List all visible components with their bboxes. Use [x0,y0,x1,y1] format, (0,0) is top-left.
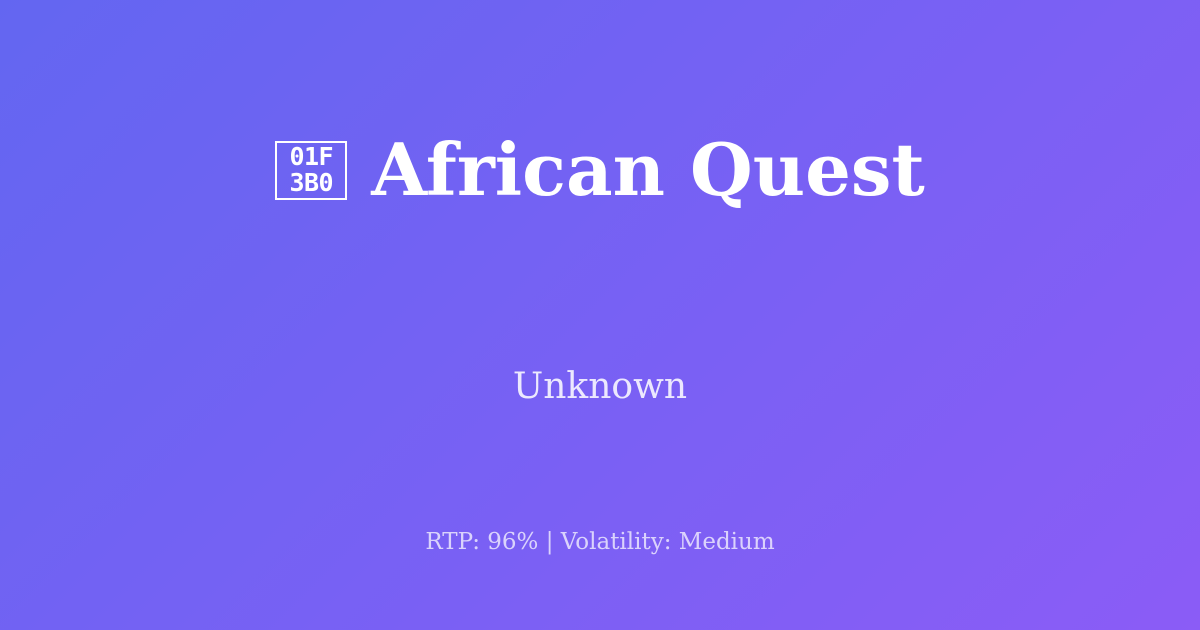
game-meta-line: RTP: 96% | Volatility: Medium [0,526,1200,558]
game-share-card: 01F 3B0 African Quest Unknown RTP: 96% |… [0,0,1200,630]
slot-machine-icon-codepoint-line2: 3B0 [289,170,333,196]
slot-machine-icon-codepoint-line1: 01F [289,144,333,170]
slot-machine-icon: 01F 3B0 [275,141,347,200]
game-title: African Quest [371,132,924,208]
title-row: 01F 3B0 African Quest [0,0,1200,340]
game-provider: Unknown [0,361,1200,413]
